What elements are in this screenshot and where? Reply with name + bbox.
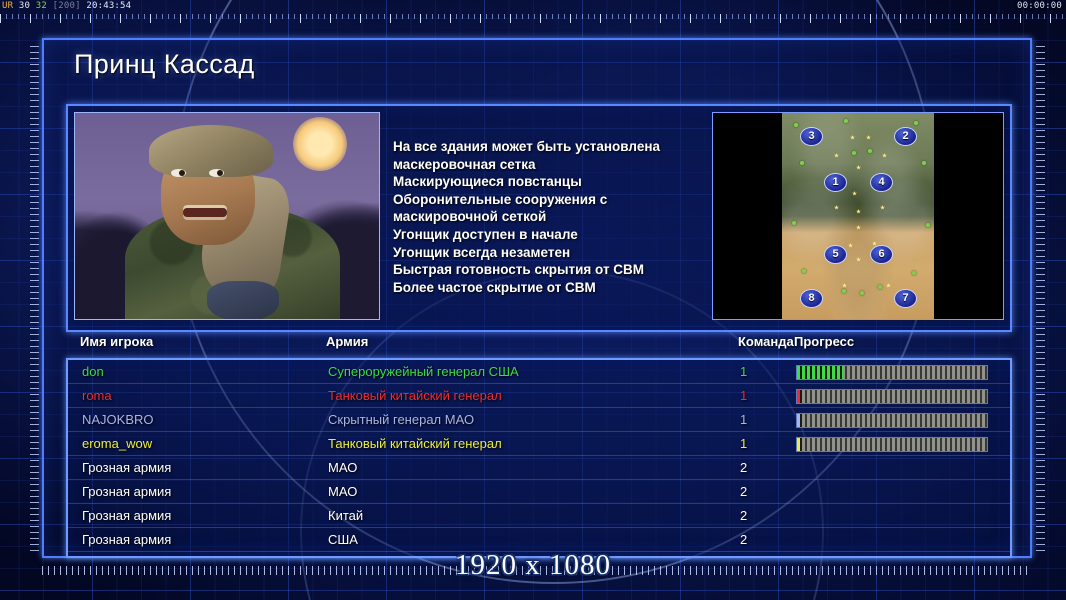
header-progress: Прогресс (794, 334, 854, 349)
cell-progress (796, 389, 988, 404)
cell-player-name: don (82, 360, 104, 384)
minimap-position-5[interactable]: 5 (824, 245, 847, 264)
header-army: Армия (326, 334, 368, 349)
minimap-tech-marker (842, 283, 847, 288)
progress-bar-fill (797, 390, 802, 403)
cell-player-name: roma (82, 384, 112, 408)
minimap-tech-marker (856, 165, 861, 170)
table-row[interactable]: Грозная армияМАО2 (68, 456, 1010, 480)
minimap-tech-marker (856, 257, 861, 262)
cell-team: 2 (740, 504, 747, 528)
portrait-sun (293, 117, 347, 171)
cell-team: 1 (740, 384, 747, 408)
cell-progress (796, 365, 988, 380)
minimap-resource-dot (878, 285, 882, 289)
title-panel: Принц Кассад (44, 40, 1030, 88)
table-row[interactable]: romaТанковый китайский генерал1 (68, 384, 1010, 408)
cell-army: Танковый китайский генерал (328, 384, 502, 408)
status-clock: 20:43:54 (86, 1, 131, 11)
minimap-resource-dot (794, 123, 798, 127)
portrait-mouth (183, 205, 227, 220)
minimap-position-2[interactable]: 2 (894, 127, 917, 146)
cell-army: МАО (328, 456, 357, 480)
general-portrait (74, 112, 380, 320)
portrait-object (207, 281, 279, 320)
minimap-resource-dot (914, 121, 918, 125)
minimap-tech-marker (856, 209, 861, 214)
portrait-pupil-left (179, 170, 185, 176)
player-list-panel: Имя игрока Армия Команда Прогресс donСуп… (66, 334, 1008, 556)
description-line: Оборонительные сооружения с (393, 191, 723, 209)
minimap-tech-marker (834, 205, 839, 210)
minimap-position-6[interactable]: 6 (870, 245, 893, 264)
minimap-tech-marker (886, 283, 891, 288)
player-rows: donСупероружейный генерал США1romaТанков… (66, 358, 1012, 558)
table-row[interactable]: NAJOKBROСкрытный генерал МАО1 (68, 408, 1010, 432)
cell-player-name: NAJOKBRO (82, 408, 154, 432)
cell-team: 1 (740, 432, 747, 456)
cell-team: 1 (740, 360, 747, 384)
minimap[interactable]: 32145687 (782, 113, 934, 319)
minimap-tech-marker (852, 191, 857, 196)
minimap-resource-dot (926, 223, 930, 227)
cell-player-name: Грозная армия (82, 504, 171, 528)
minimap-resource-dot (922, 161, 926, 165)
minimap-resource-dot (842, 289, 846, 293)
progress-bar-fill (797, 438, 802, 451)
progress-bar (796, 365, 988, 380)
minimap-position-8[interactable]: 8 (800, 289, 823, 308)
minimap-resource-dot (868, 149, 872, 153)
table-row[interactable]: Грозная армияКитай2 (68, 504, 1010, 528)
cell-army: Китай (328, 504, 363, 528)
cell-player-name: Грозная армия (82, 480, 171, 504)
description-line: Быстрая готовность скрытия от СВМ (393, 261, 723, 279)
table-header: Имя игрока Армия Команда Прогресс (66, 334, 1008, 356)
minimap-position-4[interactable]: 4 (870, 173, 893, 192)
description-line: На все здания может быть установлена (393, 138, 723, 156)
minimap-resource-dot (860, 291, 864, 295)
description-line: маскировочной сеткой (393, 208, 723, 226)
minimap-tech-marker (850, 135, 855, 140)
header-player-name: Имя игрока (80, 334, 153, 349)
status-value-a: 30 (19, 1, 30, 11)
minimap-tech-marker (848, 243, 853, 248)
status-bar-left: UR 30 32 [200] 20:43:54 (2, 0, 131, 13)
status-value-c: [200] (53, 1, 81, 11)
table-row[interactable]: donСупероружейный генерал США1 (68, 360, 1010, 384)
cell-player-name: eroma_wow (82, 432, 152, 456)
progress-bar-track (797, 438, 987, 451)
minimap-resource-dot (852, 151, 856, 155)
cell-progress (796, 413, 988, 428)
minimap-container[interactable]: 32145687 (712, 112, 1004, 320)
minimap-resource-dot (844, 119, 848, 123)
description-line: Угонщик всегда незаметен (393, 244, 723, 262)
game-screen: UR 30 32 [200] 20:43:54 00:00:00 Принц К… (0, 0, 1066, 600)
general-info-panel: На все здания может быть установлена мас… (66, 104, 1012, 332)
cell-player-name: Грозная армия (82, 456, 171, 480)
header-team: Команда (738, 334, 794, 349)
minimap-tech-marker (866, 135, 871, 140)
cell-army: Скрытный генерал МАО (328, 408, 474, 432)
minimap-tech-marker (882, 153, 887, 158)
general-description: На все здания может быть установлена мас… (393, 138, 723, 296)
progress-bar (796, 413, 988, 428)
minimap-tech-marker (834, 153, 839, 158)
description-line: маскеровочная сетка (393, 156, 723, 174)
cell-team: 2 (740, 480, 747, 504)
progress-bar-track (797, 390, 987, 403)
page-title: Принц Кассад (74, 49, 255, 80)
minimap-resource-dot (792, 221, 796, 225)
status-label: UR (2, 1, 13, 11)
minimap-resource-dot (912, 271, 916, 275)
minimap-tech-marker (880, 205, 885, 210)
cell-army: Супероружейный генерал США (328, 360, 519, 384)
table-row[interactable]: Грозная армияМАО2 (68, 480, 1010, 504)
minimap-resource-dot (802, 269, 806, 273)
description-line: Более частое скрытие от СВМ (393, 279, 723, 297)
minimap-position-7[interactable]: 7 (894, 289, 917, 308)
cell-army: МАО (328, 480, 357, 504)
game-timer: 00:00:00 (1017, 0, 1062, 13)
progress-bar-track (797, 414, 987, 427)
minimap-position-1[interactable]: 1 (824, 173, 847, 192)
cell-team: 2 (740, 456, 747, 480)
progress-bar-fill (797, 414, 802, 427)
status-bar: UR 30 32 [200] 20:43:54 00:00:00 (0, 0, 1066, 14)
cell-army: Танковый китайский генерал (328, 432, 502, 456)
minimap-position-3[interactable]: 3 (800, 127, 823, 146)
minimap-resource-dot (800, 161, 804, 165)
status-value-b: 32 (36, 1, 47, 11)
description-line: Угонщик доступен в начале (393, 226, 723, 244)
progress-bar (796, 437, 988, 452)
cell-progress (796, 437, 988, 452)
description-line: Маскирующиеся повстанцы (393, 173, 723, 191)
progress-bar-fill (797, 366, 843, 379)
cell-team: 1 (740, 408, 747, 432)
resolution-label: 1920 x 1080 (0, 549, 1066, 582)
table-row[interactable]: eroma_wowТанковый китайский генерал1 (68, 432, 1010, 456)
portrait-pupil-right (217, 170, 223, 176)
minimap-tech-marker (856, 225, 861, 230)
progress-bar (796, 389, 988, 404)
